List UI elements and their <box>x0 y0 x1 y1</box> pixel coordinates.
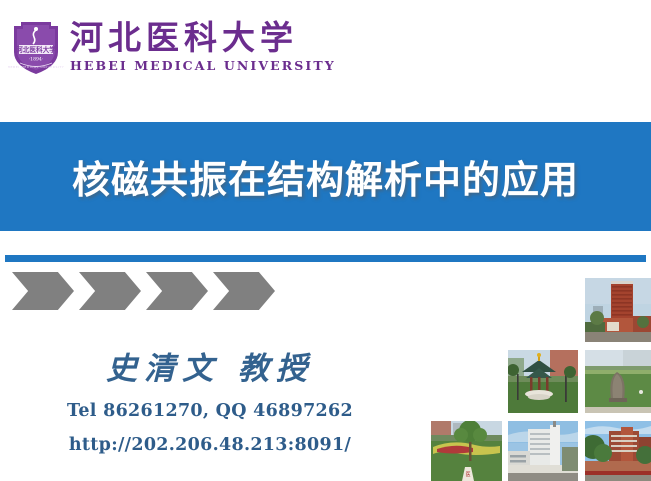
chevron-right-icon <box>79 272 141 310</box>
horizontal-rule <box>5 255 646 262</box>
svg-text:·1894·: ·1894· <box>29 57 44 63</box>
presenter-name: 史清文 教授 <box>0 350 420 389</box>
presenter-contact: Tel 86261270, QQ 46897262 <box>0 399 420 424</box>
presenter-info: 史清文 教授 Tel 86261270, QQ 46897262 http://… <box>0 350 420 458</box>
presenter-website[interactable]: http://202.206.48.213:8091/ <box>0 433 420 458</box>
photo-red-brick-highrise <box>585 278 651 342</box>
svg-text:医: 医 <box>465 472 470 478</box>
photo-garden-monument: 医 <box>431 421 502 481</box>
photo-chinese-pavilion <box>508 350 578 413</box>
university-name-chinese: 河北医科大学 <box>70 21 336 56</box>
chevron-arrow-group <box>12 272 282 310</box>
university-wordmark: 河北医科大学 HEBEI MEDICAL UNIVERSITY <box>70 21 336 72</box>
chevron-right-icon <box>12 272 74 310</box>
photo-white-modern-building <box>508 421 578 481</box>
university-logo: 河北医科大学 ·1894· HEBEI MEDICAL UNIVERSITY 河… <box>8 12 338 82</box>
title-banner: 核磁共振在结构解析中的应用 <box>0 122 651 231</box>
photo-stone-monument <box>585 350 651 413</box>
university-crest-icon: 河北医科大学 ·1894· HEBEI MEDICAL UNIVERSITY <box>8 18 64 76</box>
chevron-right-icon <box>213 272 275 310</box>
photo-brick-building-trees <box>585 421 651 481</box>
svg-text:HEBEI MEDICAL UNIVERSITY: HEBEI MEDICAL UNIVERSITY <box>8 65 64 69</box>
svg-text:河北医科大学: 河北医科大学 <box>16 45 56 54</box>
slide-title: 核磁共振在结构解析中的应用 <box>72 149 579 204</box>
chevron-right-icon <box>146 272 208 310</box>
presentation-slide: 河北医科大学 ·1894· HEBEI MEDICAL UNIVERSITY 河… <box>0 0 651 481</box>
university-name-english: HEBEI MEDICAL UNIVERSITY <box>70 59 336 73</box>
